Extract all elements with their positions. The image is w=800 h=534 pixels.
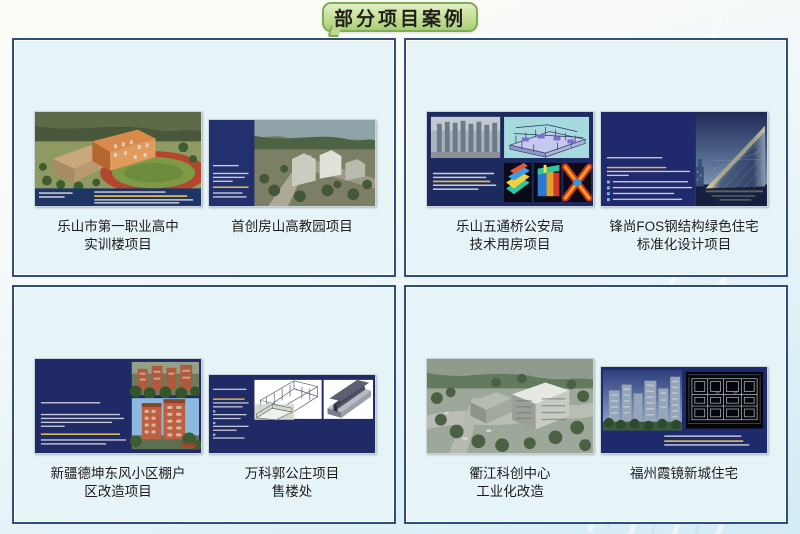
thumbnail-row [22,103,386,207]
project-vanke-guogongzhuang[interactable] [208,374,376,454]
police-building-steel-structure-thumbnail[interactable] [426,111,594,207]
project-card-bottom-right[interactable]: 衢江科创中心 工业化改造 福州霞镜新城住宅 [404,285,788,524]
project-leshan-wutongqiao-police[interactable] [426,111,594,207]
project-label: 锋尚FOS钢结构绿色住宅 标准化设计项目 [600,218,768,254]
label-row: 乐山五通桥公安局 技术用房项目 锋尚FOS钢结构绿色住宅 标准化设计项目 [414,207,778,265]
project-qujiang-innovation-center[interactable] [426,358,594,454]
project-leshan-vocational[interactable] [34,111,202,207]
project-label: 万科郭公庄项目 售楼处 [208,465,376,501]
sales-office-frame-model-thumbnail[interactable] [208,374,376,454]
project-shouchuang-fangshan[interactable] [208,119,376,207]
label-row: 新疆德坤东风小区棚户 区改造项目 万科郭公庄项目 售楼处 [22,454,386,512]
project-label: 乐山市第一职业高中 实训楼项目 [34,218,202,254]
highrise-cad-plan-thumbnail[interactable] [600,366,768,454]
residential-renovation-thumbnail[interactable] [34,358,202,454]
thumbnail-row [22,350,386,454]
glass-tower-night-thumbnail[interactable] [600,111,768,207]
label-row: 乐山市第一职业高中 实训楼项目 首创房山高教园项目 [22,207,386,265]
project-card-top-right[interactable]: 乐山五通桥公安局 技术用房项目 锋尚FOS钢结构绿色住宅 标准化设计项目 [404,38,788,277]
project-fengshang-fos[interactable] [600,111,768,207]
thumbnail-row [414,350,778,454]
thumbnail-row [414,103,778,207]
project-card-top-left[interactable]: 乐山市第一职业高中 实训楼项目 首创房山高教园项目 [12,38,396,277]
project-xinjiang-dekun-dongfeng[interactable] [34,358,202,454]
project-card-grid: 乐山市第一职业高中 实训楼项目 首创房山高教园项目 [12,38,788,524]
slide-title-banner: 部分项目案例 [322,2,478,32]
campus-aerial-photo-thumbnail[interactable] [208,119,376,207]
slide-canvas: 部分项目案例 [0,0,800,534]
project-label: 衢江科创中心 工业化改造 [426,465,594,501]
project-label: 首创房山高教园项目 [208,218,376,236]
innovation-center-aerial-thumbnail[interactable] [426,358,594,454]
project-card-bottom-left[interactable]: 新疆德坤东风小区棚户 区改造项目 万科郭公庄项目 售楼处 [12,285,396,524]
project-label: 乐山五通桥公安局 技术用房项目 [426,218,594,254]
project-label: 新疆德坤东风小区棚户 区改造项目 [34,465,202,501]
project-fuzhou-xiajing[interactable] [600,366,768,454]
project-label: 福州霞镜新城住宅 [600,465,768,483]
page-title: 部分项目案例 [334,4,466,31]
school-aerial-rendering-thumbnail[interactable] [34,111,202,207]
label-row: 衢江科创中心 工业化改造 福州霞镜新城住宅 [414,454,778,512]
